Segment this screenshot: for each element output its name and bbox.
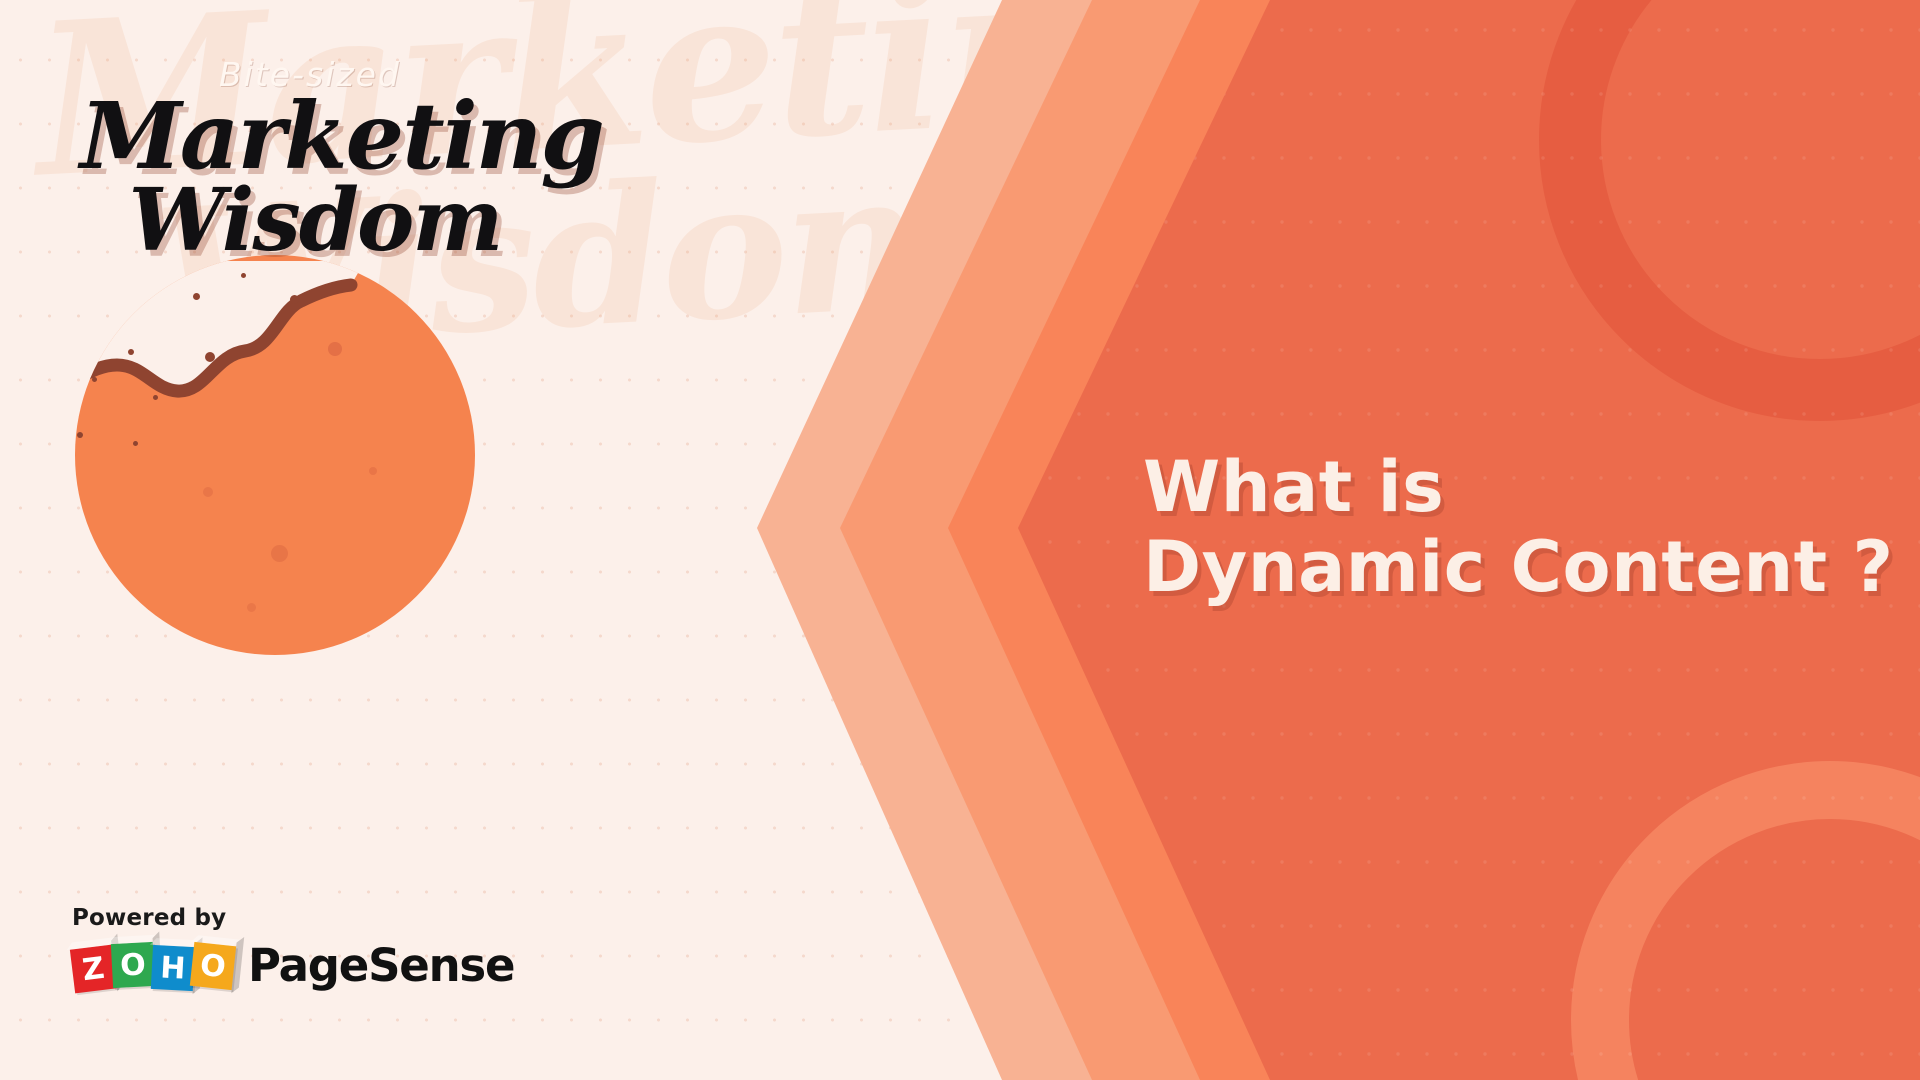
- cookie-bite-icon: [65, 243, 485, 663]
- left-panel: Marketing Wisdom: [0, 0, 1040, 1080]
- crumb: [153, 395, 158, 400]
- crumb: [369, 467, 377, 475]
- headline: What is Dynamic Content ?: [1143, 448, 1863, 608]
- brand-lockup: Powered by Z O H O PageSense: [72, 905, 514, 992]
- headline-line-1: What is: [1143, 448, 1863, 528]
- zoho-pagesense-logo: Z O H O PageSense: [72, 939, 514, 992]
- crumb: [92, 377, 97, 382]
- crumb: [271, 545, 288, 562]
- zoho-letter: H: [159, 949, 186, 985]
- crumb: [290, 295, 299, 304]
- crumb: [205, 352, 215, 362]
- powered-by-label: Powered by: [72, 905, 514, 931]
- watermark-line-1: Marketing: [30, 0, 1040, 225]
- product-name: PageSense: [248, 939, 514, 992]
- badge-title-line-1: Marketing: [80, 96, 540, 177]
- crumb: [77, 432, 83, 438]
- cookie-badge: [75, 255, 475, 655]
- crumb: [128, 349, 134, 355]
- zoho-cube-z: Z: [70, 944, 117, 993]
- crumb: [241, 273, 246, 278]
- zoho-cube-h: H: [151, 944, 195, 990]
- headline-line-2: Dynamic Content ?: [1143, 528, 1863, 608]
- zoho-cube-o1: O: [111, 941, 155, 987]
- crumb: [193, 293, 200, 300]
- badge-eyebrow: Bite-sized: [80, 55, 540, 94]
- zoho-letter: O: [119, 946, 146, 982]
- badge-lettering: Bite-sized Marketing Wisdom: [80, 55, 540, 259]
- crumb: [328, 342, 342, 356]
- zoho-cubes-icon: Z O H O: [72, 944, 232, 988]
- zoho-letter: O: [198, 947, 227, 984]
- crumb: [247, 603, 256, 612]
- slide-canvas: Marketing Wisdom: [0, 0, 1920, 1080]
- crumb: [133, 441, 138, 446]
- crumb: [203, 487, 213, 497]
- zoho-letter: Z: [80, 950, 106, 987]
- zoho-cube-o2: O: [190, 941, 236, 989]
